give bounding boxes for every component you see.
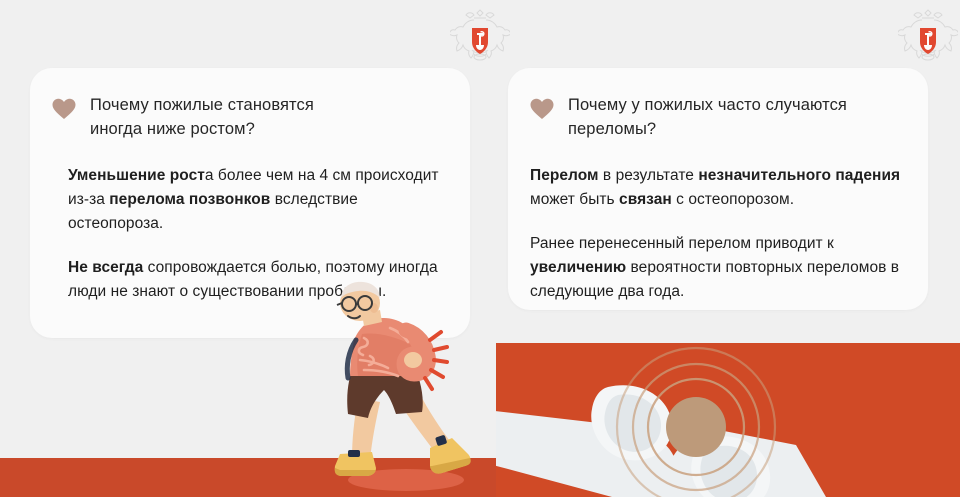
- question-line-1: Почему пожилые становятся: [90, 96, 314, 114]
- text-run-bold: Уменьшение рост: [68, 167, 205, 184]
- elderly-man-back-pain-illustration: [318, 278, 498, 497]
- card-question: Почему пожилые становятся иногда ниже ро…: [90, 94, 314, 142]
- question-line-1: Почему у пожилых часто случаются: [568, 96, 847, 114]
- card-question: Почему у пожилых часто случаются перелом…: [568, 94, 847, 142]
- text-run-bold: увеличению: [530, 259, 626, 276]
- infographic-stage: Почему пожилые становятся иногда ниже ро…: [0, 0, 960, 497]
- card-header: Почему у пожилых часто случаются перелом…: [508, 68, 928, 142]
- hand: [404, 352, 422, 368]
- faq-card-fractures: Почему у пожилых часто случаются перелом…: [508, 68, 928, 310]
- question-line-2: переломы?: [568, 120, 656, 138]
- text-run: может быть: [530, 191, 619, 208]
- ministry-of-health-emblem-icon: [898, 6, 958, 62]
- heart-icon: [52, 98, 76, 120]
- text-run: Ранее перенесенный перелом приводит к: [530, 235, 834, 252]
- joint-pain-illustration: [496, 343, 960, 497]
- text-run-bold: незначительного падения: [698, 167, 900, 184]
- text-run-bold: перелома позвонков: [109, 191, 270, 208]
- question-line-2: иногда ниже ростом?: [90, 120, 255, 138]
- text-run: в результате: [599, 167, 699, 184]
- heart-icon: [530, 98, 554, 120]
- text-run: с остеопорозом.: [672, 191, 794, 208]
- card-body: Перелом в результате незначительного пад…: [508, 142, 928, 304]
- shoe-back-strap: [348, 450, 360, 457]
- card-paragraph: Ранее перенесенный перелом приводит к ув…: [530, 232, 902, 304]
- cartilage-core: [666, 397, 726, 457]
- joint-illustration-panel: [496, 343, 960, 497]
- text-run-bold: связан: [619, 191, 672, 208]
- card-paragraph: Уменьшение роста более чем на 4 см проис…: [68, 164, 444, 236]
- text-run-bold: Не всегда: [68, 259, 143, 276]
- card-header: Почему пожилые становятся иногда ниже ро…: [30, 68, 470, 142]
- ministry-of-health-emblem-icon: [450, 6, 510, 62]
- text-run-bold: Перелом: [530, 167, 599, 184]
- card-paragraph: Перелом в результате незначительного пад…: [530, 164, 902, 212]
